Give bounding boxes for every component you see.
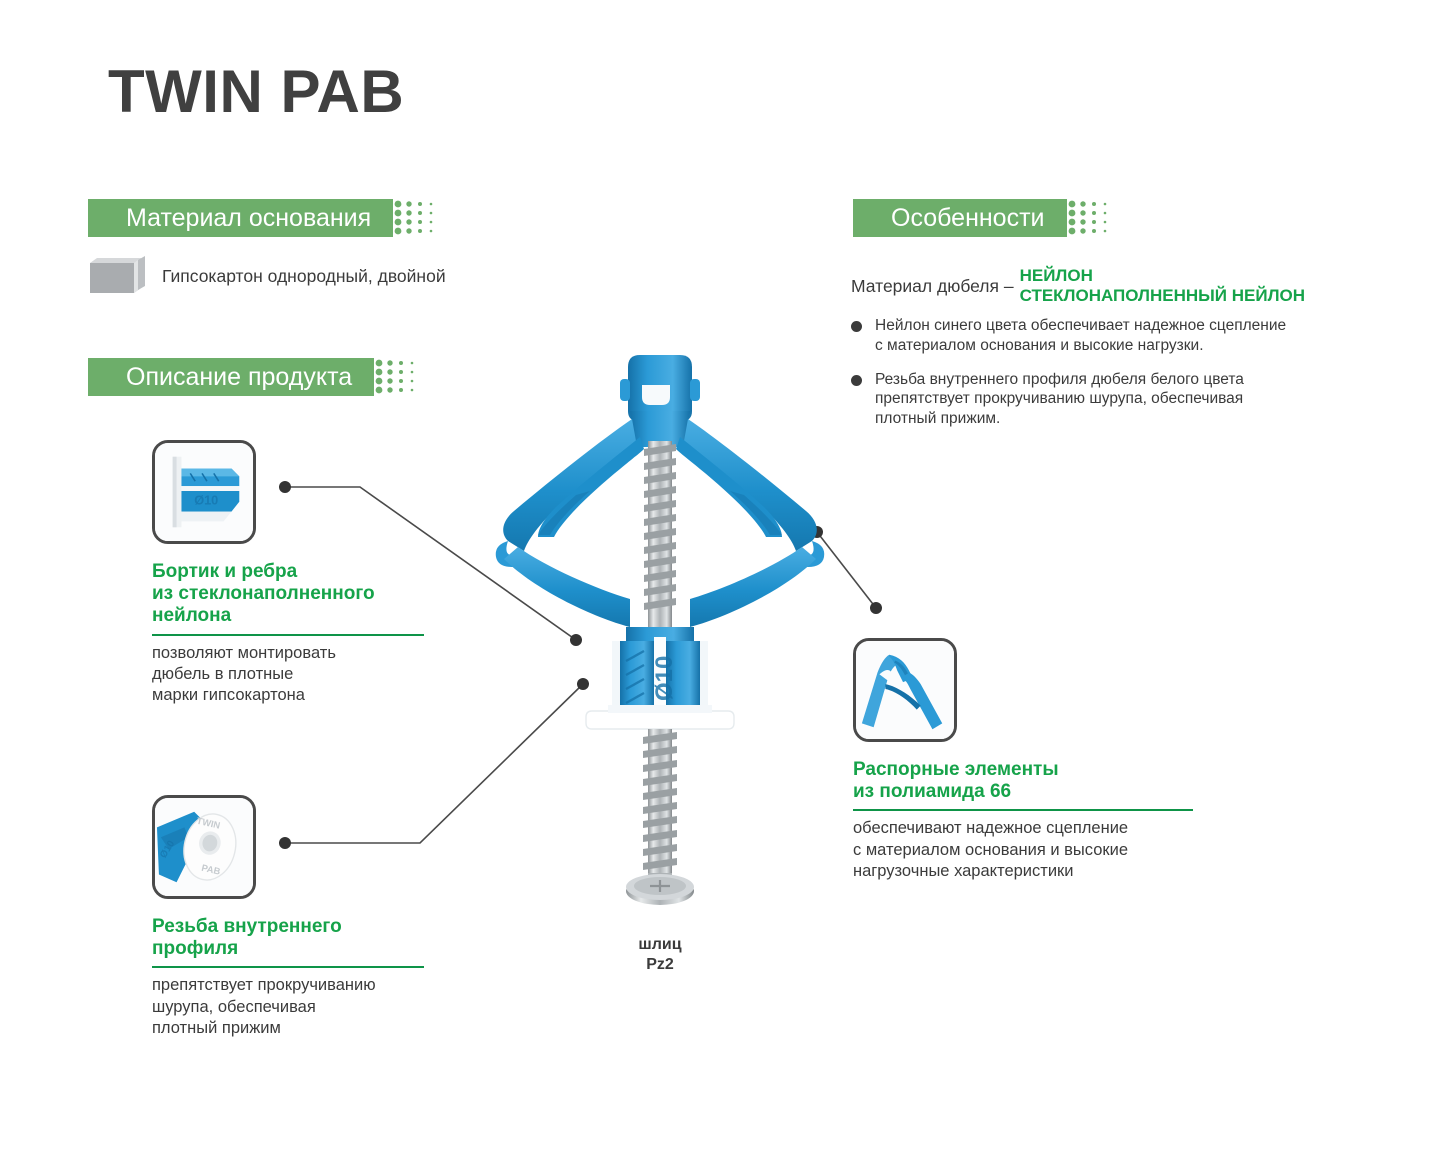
drywall-slab-icon (88, 255, 148, 297)
callout-title: Бортик и ребра из стеклонаполненного ней… (152, 561, 452, 628)
section-header-bar: Описание продукта (88, 358, 374, 396)
drive-type-caption: шлиц Pz2 (560, 935, 760, 975)
callout-internal-thread: Ø10 TWIN PAB Резьба внутреннего профиля … (152, 795, 452, 1039)
base-material-label: Гипсокартон однородный, двойной (162, 266, 446, 287)
anchor-collar-photo-icon: Ø10 (155, 443, 253, 541)
section-header-bar: Материал основания (88, 199, 393, 237)
callout-body: препятствует прокручиванию шурупа, обесп… (152, 975, 452, 1038)
callout-thumbnail[interactable]: Ø10 TWIN PAB (152, 795, 256, 899)
section-header-label: Особенности (891, 206, 1045, 231)
anchor-material-prefix: Материал дюбеля – (851, 266, 1014, 297)
base-material-row: Гипсокартон однородный, двойной (88, 255, 446, 297)
bullet-text: Нейлон синего цвета обеспечивает надежно… (875, 316, 1286, 356)
list-item: Резьба внутреннего профиля дюбеля белого… (851, 370, 1381, 429)
product-hero-image: Ø10 (480, 345, 840, 925)
callout-thumbnail[interactable] (853, 638, 957, 742)
callout-body: обеспечивают надежное сцепление с матери… (853, 818, 1203, 881)
section-header-label: Описание продукта (126, 365, 352, 390)
bullet-text: Резьба внутреннего профиля дюбеля белого… (875, 370, 1244, 429)
page-title: TWIN PAB (108, 62, 404, 122)
expansion-legs-photo-icon (856, 641, 954, 739)
callout-divider (152, 634, 424, 636)
internal-thread-photo-icon: Ø10 TWIN PAB (155, 798, 253, 896)
callout-body: позволяют монтировать дюбель в плотные м… (152, 643, 452, 706)
anchor-material-value: НЕЙЛОН СТЕКЛОНАПОЛНЕННЫЙ НЕЙЛОН (1020, 266, 1305, 306)
section-header-features: Особенности (853, 199, 1115, 237)
list-item: Нейлон синего цвета обеспечивает надежно… (851, 316, 1381, 356)
datasheet-page: TWIN PAB Материал основания Гипсокартон … (0, 0, 1440, 1152)
section-header-product-description: Описание продукта (88, 358, 422, 396)
diameter-marking: Ø10 (651, 656, 678, 701)
callout-expansion-legs: Распорные элементы из полиамида 66 обесп… (853, 638, 1203, 882)
section-header-label: Материал основания (126, 206, 371, 231)
halftone-dots-icon (374, 358, 422, 396)
bullet-dot-icon (851, 321, 862, 332)
callout-title: Резьба внутреннего профиля (152, 916, 452, 960)
callout-thumbnail[interactable]: Ø10 (152, 440, 256, 544)
halftone-dots-icon (1067, 199, 1115, 237)
section-header-base-material: Материал основания (88, 199, 441, 237)
bullet-dot-icon (851, 375, 862, 386)
svg-text:Ø10: Ø10 (194, 493, 218, 508)
callout-divider (853, 809, 1193, 811)
callout-edge-and-ribs: Ø10 Бортик и ребра из стеклонаполненного… (152, 440, 452, 706)
halftone-dots-icon (393, 199, 441, 237)
section-header-bar: Особенности (853, 199, 1067, 237)
anchor-material-line: Материал дюбеля – НЕЙЛОН СТЕКЛОНАПОЛНЕНН… (851, 266, 1305, 306)
twin-pab-anchor-with-screw-illustration: Ø10 (480, 345, 840, 925)
callout-divider (152, 966, 424, 968)
callout-title: Распорные элементы из полиамида 66 (853, 759, 1203, 803)
features-bullet-list: Нейлон синего цвета обеспечивает надежно… (851, 316, 1381, 443)
